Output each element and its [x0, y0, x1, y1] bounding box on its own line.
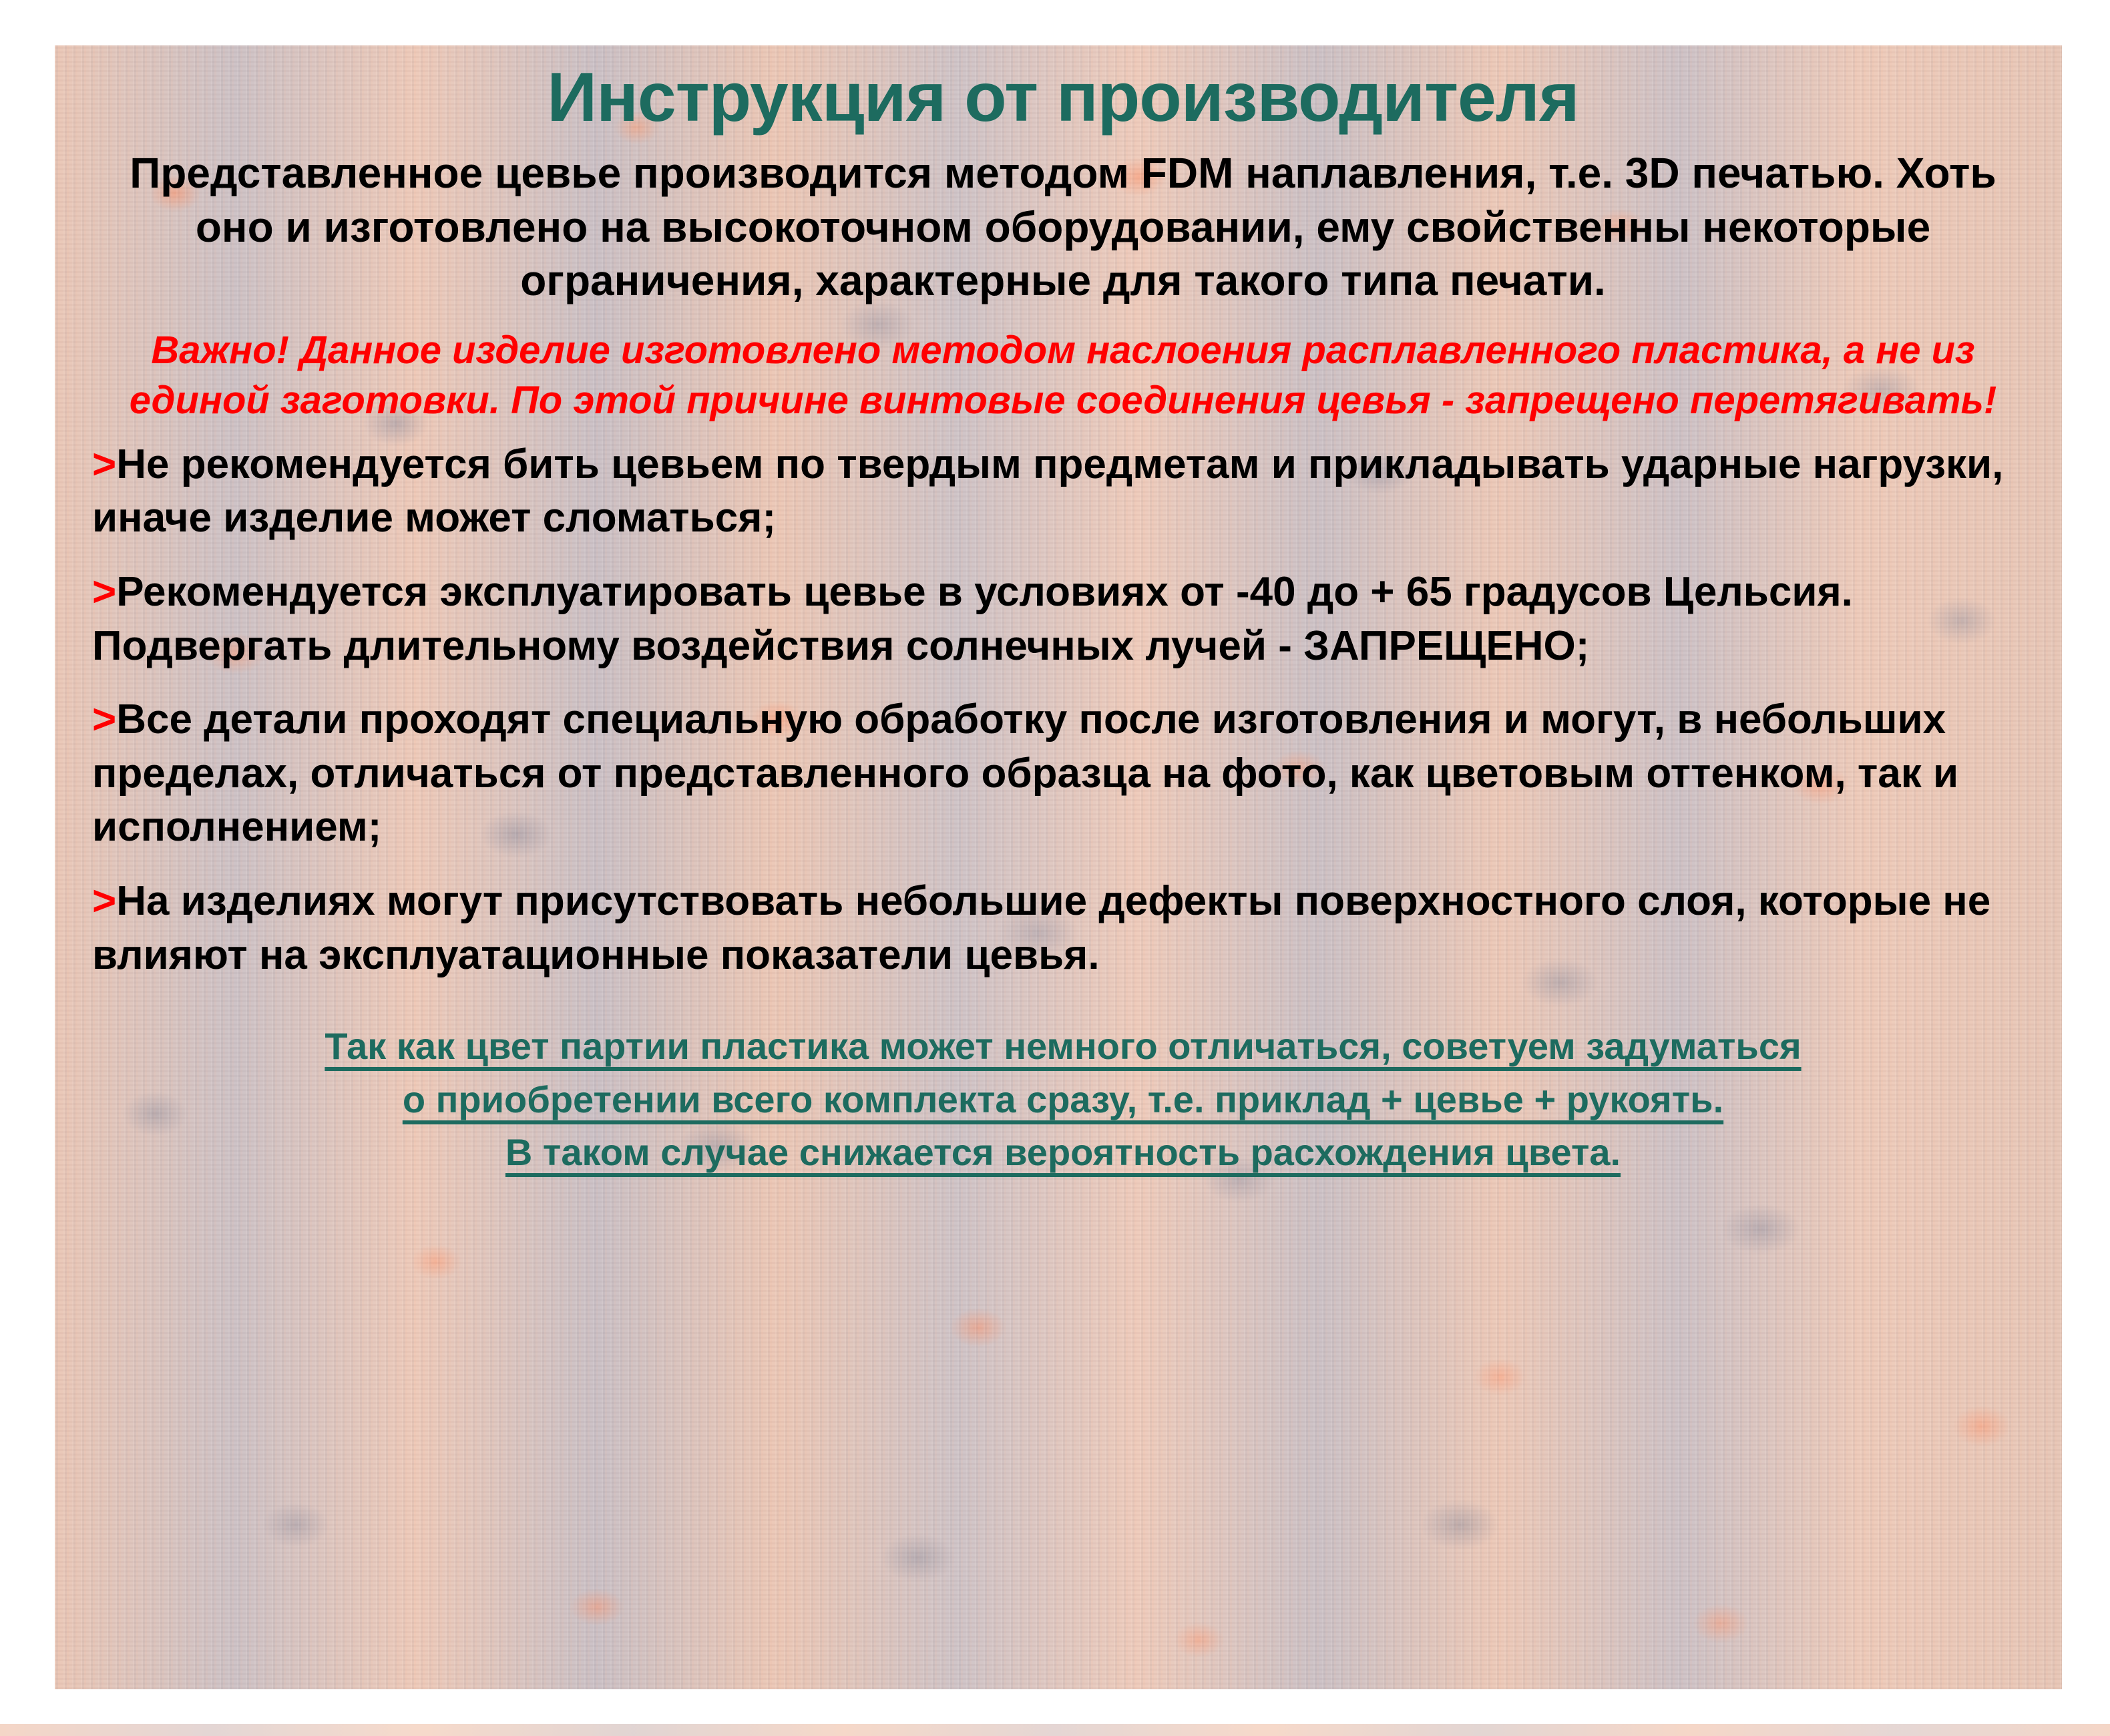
- page-title: Инструкция от производителя: [92, 61, 2034, 134]
- instruction-content: Инструкция от производителя Представленн…: [55, 61, 2062, 1179]
- important-warning-text: Важно! Данное изделие изготовлено методо…: [115, 325, 2011, 426]
- list-item: >Рекомендуется эксплуатировать цевье в у…: [92, 566, 2034, 673]
- list-item-text: Не рекомендуется бить цевьем по твердым …: [92, 441, 2003, 541]
- list-item-text: Все детали проходят специальную обработк…: [92, 696, 1958, 850]
- list-item-text: Рекомендуется эксплуатировать цевье в ус…: [92, 569, 1853, 669]
- warning-bullet-list: >Не рекомендуется бить цевьем по твердым…: [92, 438, 2034, 982]
- intro-paragraph: Представленное цевье производится методо…: [104, 146, 2022, 308]
- footnote-line: В таком случае снижается вероятность рас…: [99, 1126, 2027, 1179]
- footnote-line: о приобретении всего комплекта сразу, т.…: [99, 1073, 2027, 1126]
- footnote-recommendation: Так как цвет партии пластика может немно…: [99, 1020, 2027, 1179]
- page-bottom-edge-strip: [0, 1724, 2110, 1736]
- list-item: >Все детали проходят специальную обработ…: [92, 693, 2034, 855]
- list-item: >На изделиях могут присутствовать неболь…: [92, 875, 2034, 982]
- bullet-marker-icon: >: [92, 696, 116, 742]
- bullet-marker-icon: >: [92, 569, 116, 615]
- bullet-marker-icon: >: [92, 441, 116, 487]
- list-item: >Не рекомендуется бить цевьем по твердым…: [92, 438, 2034, 546]
- textured-background-panel: Инструкция от производителя Представленн…: [55, 45, 2062, 1689]
- bullet-marker-icon: >: [92, 878, 116, 924]
- list-item-text: На изделиях могут присутствовать небольш…: [92, 878, 1990, 978]
- footnote-line: Так как цвет партии пластика может немно…: [99, 1020, 2027, 1073]
